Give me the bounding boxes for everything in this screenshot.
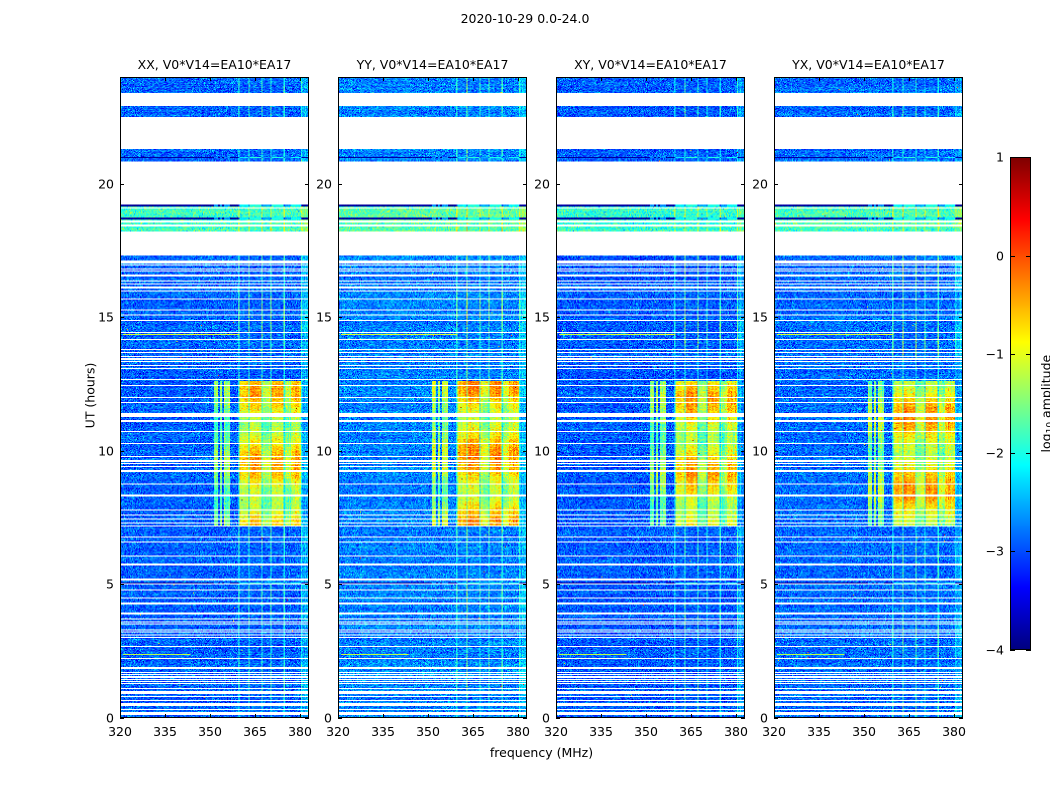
x-tick-label: 335: [371, 724, 395, 739]
x-tick-mark: [383, 714, 384, 718]
y-tick-mark: [338, 584, 342, 585]
y-tick-label: 20: [744, 176, 768, 191]
colorbar-tick-label: −1: [976, 347, 1004, 362]
colorbar-gradient: [1010, 157, 1031, 650]
x-tick-mark: [736, 77, 737, 81]
waterfall-image: [339, 78, 526, 717]
panel-title-xx: XX, V0*V14=EA10*EA17: [120, 57, 309, 72]
x-tick-mark: [909, 77, 910, 81]
waterfall-image: [557, 78, 744, 717]
colorbar-tick-mark: [1010, 157, 1015, 158]
panel-xx[interactable]: XX, V0*V14=EA10*EA1732033535036538005101…: [120, 77, 309, 718]
y-tick-mark: [774, 317, 778, 318]
x-tick-mark: [909, 714, 910, 718]
y-tick-mark: [120, 718, 124, 719]
x-tick-label: 350: [416, 724, 440, 739]
y-tick-mark: [959, 317, 963, 318]
x-tick-mark: [691, 714, 692, 718]
x-tick-mark: [473, 77, 474, 81]
x-tick-mark: [255, 714, 256, 718]
colorbar-tick-mark: [1010, 354, 1015, 355]
x-tick-mark: [300, 77, 301, 81]
colorbar-tick-label: 1: [976, 150, 1004, 165]
x-tick-label: 350: [198, 724, 222, 739]
panel-title-yy: YY, V0*V14=EA10*EA17: [338, 57, 527, 72]
y-tick-label: 20: [526, 176, 550, 191]
x-tick-mark: [736, 714, 737, 718]
colorbar-tick-mark: [1026, 551, 1031, 552]
y-tick-label: 0: [90, 711, 114, 726]
colorbar-label-pre: log: [1038, 433, 1050, 452]
y-tick-mark: [120, 451, 124, 452]
x-tick-mark: [120, 77, 121, 81]
x-tick-mark: [473, 714, 474, 718]
y-tick-mark: [774, 451, 778, 452]
y-tick-mark: [774, 184, 778, 185]
x-tick-mark: [601, 714, 602, 718]
colorbar-label: log10 amplitude: [1038, 323, 1050, 483]
y-axis-label: UT (hours): [83, 315, 98, 475]
y-tick-label: 10: [308, 443, 332, 458]
panel-title-xy: XY, V0*V14=EA10*EA17: [556, 57, 745, 72]
x-tick-label: 335: [807, 724, 831, 739]
waterfall-image: [775, 78, 962, 717]
x-tick-mark: [556, 77, 557, 81]
x-tick-mark: [518, 77, 519, 81]
x-tick-mark: [428, 77, 429, 81]
x-tick-mark: [954, 714, 955, 718]
panel-yx[interactable]: YX, V0*V14=EA10*EA1732033535036538005101…: [774, 77, 963, 718]
y-tick-label: 15: [744, 310, 768, 325]
colorbar-tick-mark: [1010, 256, 1015, 257]
x-tick-label: 320: [762, 724, 786, 739]
figure: 2020-10-29 0.0-24.0 XX, V0*V14=EA10*EA17…: [0, 0, 1050, 800]
y-tick-mark: [120, 317, 124, 318]
y-tick-label: 15: [526, 310, 550, 325]
y-tick-mark: [556, 584, 560, 585]
x-tick-label: 320: [108, 724, 132, 739]
colorbar-tick-mark: [1010, 650, 1015, 651]
y-tick-mark: [338, 184, 342, 185]
y-tick-mark: [120, 184, 124, 185]
colorbar-tick-label: −2: [976, 445, 1004, 460]
y-tick-label: 5: [744, 577, 768, 592]
y-tick-label: 20: [90, 176, 114, 191]
x-tick-label: 380: [942, 724, 966, 739]
colorbar-tick-mark: [1026, 650, 1031, 651]
x-tick-label: 380: [506, 724, 530, 739]
x-tick-label: 365: [461, 724, 485, 739]
x-tick-mark: [691, 77, 692, 81]
colorbar-tick-label: −3: [976, 544, 1004, 559]
y-tick-mark: [338, 317, 342, 318]
x-tick-label: 320: [544, 724, 568, 739]
y-tick-mark: [959, 584, 963, 585]
x-tick-mark: [819, 77, 820, 81]
x-tick-mark: [864, 77, 865, 81]
x-tick-mark: [646, 77, 647, 81]
x-tick-mark: [864, 714, 865, 718]
panel-yy[interactable]: YY, V0*V14=EA10*EA1732033535036538005101…: [338, 77, 527, 718]
y-tick-label: 15: [308, 310, 332, 325]
y-tick-mark: [774, 584, 778, 585]
x-tick-mark: [210, 714, 211, 718]
y-tick-label: 0: [744, 711, 768, 726]
waterfall-image: [121, 78, 308, 717]
y-tick-mark: [556, 451, 560, 452]
x-tick-mark: [954, 77, 955, 81]
y-tick-mark: [774, 718, 778, 719]
x-tick-label: 350: [634, 724, 658, 739]
x-tick-mark: [338, 77, 339, 81]
waterfall-xy[interactable]: [556, 77, 745, 718]
x-tick-label: 350: [852, 724, 876, 739]
y-tick-mark: [120, 584, 124, 585]
x-tick-mark: [165, 77, 166, 81]
waterfall-yy[interactable]: [338, 77, 527, 718]
y-tick-label: 10: [526, 443, 550, 458]
x-tick-mark: [819, 714, 820, 718]
y-tick-mark: [556, 317, 560, 318]
y-tick-label: 5: [308, 577, 332, 592]
x-tick-mark: [646, 714, 647, 718]
colorbar-tick-mark: [1010, 551, 1015, 552]
x-tick-mark: [601, 77, 602, 81]
waterfall-xx[interactable]: [120, 77, 309, 718]
x-tick-label: 365: [679, 724, 703, 739]
colorbar-label-post: amplitude: [1038, 354, 1050, 421]
x-tick-mark: [383, 77, 384, 81]
y-tick-mark: [959, 718, 963, 719]
y-tick-label: 0: [526, 711, 550, 726]
colorbar: [1010, 157, 1031, 650]
y-tick-label: 5: [90, 577, 114, 592]
y-tick-mark: [959, 184, 963, 185]
colorbar-tick-mark: [1010, 453, 1015, 454]
colorbar-tick-label: 0: [976, 248, 1004, 263]
colorbar-tick-mark: [1026, 453, 1031, 454]
x-tick-mark: [300, 714, 301, 718]
x-tick-label: 365: [897, 724, 921, 739]
x-tick-label: 380: [288, 724, 312, 739]
x-tick-mark: [428, 714, 429, 718]
y-tick-label: 20: [308, 176, 332, 191]
waterfall-yx[interactable]: [774, 77, 963, 718]
x-axis-label: frequency (MHz): [120, 745, 963, 760]
x-tick-mark: [165, 714, 166, 718]
colorbar-tick-mark: [1026, 354, 1031, 355]
colorbar-tick-label: −4: [976, 643, 1004, 658]
y-tick-mark: [338, 718, 342, 719]
y-tick-label: 10: [744, 443, 768, 458]
x-tick-label: 320: [326, 724, 350, 739]
y-tick-label: 0: [308, 711, 332, 726]
colorbar-tick-mark: [1026, 157, 1031, 158]
x-tick-label: 380: [724, 724, 748, 739]
y-tick-mark: [556, 718, 560, 719]
colorbar-tick-mark: [1026, 256, 1031, 257]
figure-suptitle: 2020-10-29 0.0-24.0: [0, 11, 1050, 26]
x-tick-mark: [255, 77, 256, 81]
x-tick-mark: [774, 77, 775, 81]
y-tick-mark: [959, 451, 963, 452]
x-tick-mark: [518, 714, 519, 718]
y-tick-label: 5: [526, 577, 550, 592]
y-tick-mark: [338, 451, 342, 452]
panel-title-yx: YX, V0*V14=EA10*EA17: [774, 57, 963, 72]
panel-xy[interactable]: XY, V0*V14=EA10*EA1732033535036538005101…: [556, 77, 745, 718]
y-tick-mark: [556, 184, 560, 185]
x-tick-label: 335: [589, 724, 613, 739]
colorbar-label-subscript: 10: [1046, 421, 1050, 432]
x-tick-mark: [210, 77, 211, 81]
x-tick-label: 335: [153, 724, 177, 739]
x-tick-label: 365: [243, 724, 267, 739]
